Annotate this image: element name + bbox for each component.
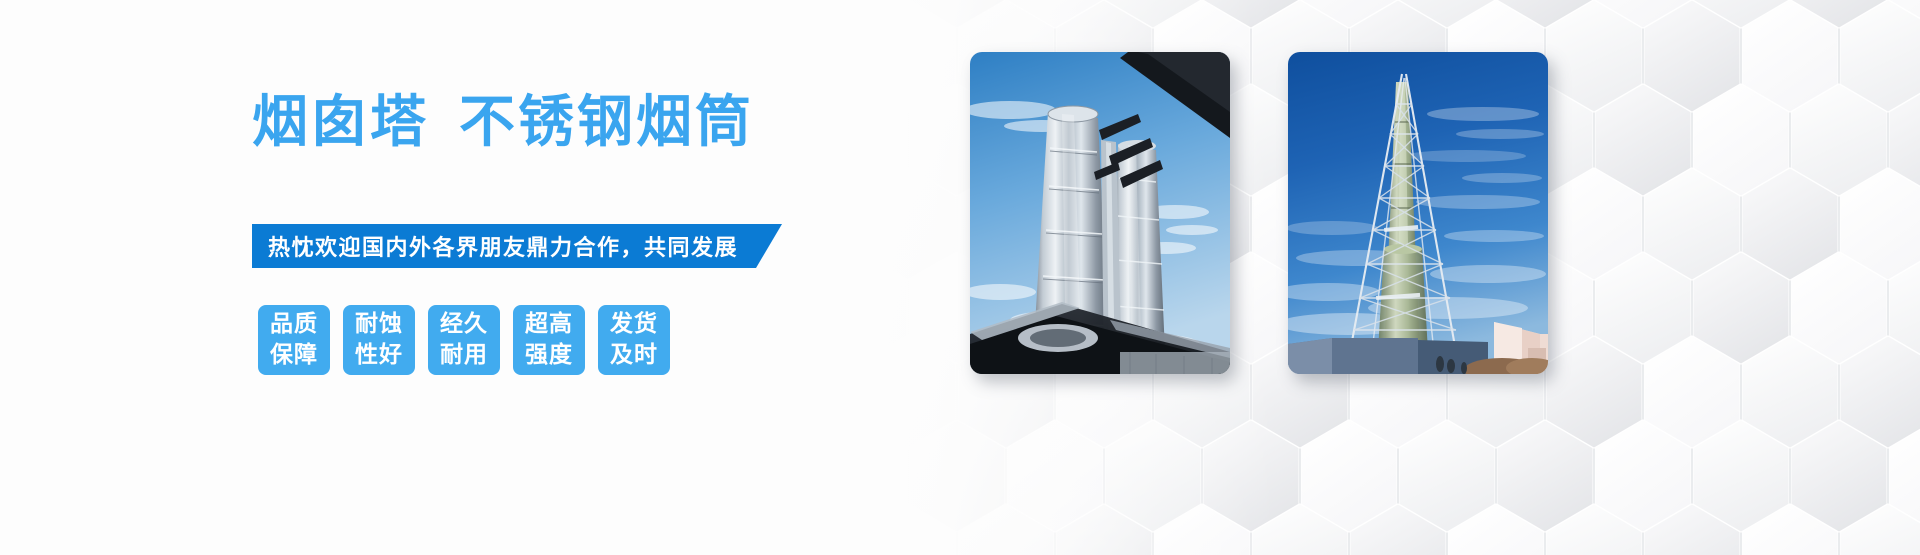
headline-part-1: 烟囱塔 — [252, 90, 429, 155]
promo-banner: 烟囱塔不锈钢烟筒 热忱欢迎国内外各界朋友鼎力合作，共同发展 品质 保障 耐蚀 性… — [0, 0, 1920, 555]
product-photo-chimney-tower[interactable] — [1288, 52, 1548, 374]
product-photo-stainless-chimney[interactable] — [970, 52, 1230, 374]
feature-badge[interactable]: 耐蚀 性好 — [343, 305, 415, 375]
badge-line-2: 强度 — [525, 340, 573, 371]
badge-line-2: 耐用 — [440, 340, 488, 371]
badge-line-1: 超高 — [525, 309, 573, 340]
badge-line-1: 耐蚀 — [355, 309, 403, 340]
badge-line-1: 经久 — [440, 309, 488, 340]
banner-headline: 烟囱塔不锈钢烟筒 — [252, 92, 754, 154]
feature-badge[interactable]: 超高 强度 — [513, 305, 585, 375]
feature-badge[interactable]: 品质 保障 — [258, 305, 330, 375]
feature-badge[interactable]: 经久 耐用 — [428, 305, 500, 375]
banner-text-column: 烟囱塔不锈钢烟筒 热忱欢迎国内外各界朋友鼎力合作，共同发展 品质 保障 耐蚀 性… — [252, 0, 1012, 555]
headline-part-2: 不锈钢烟筒 — [459, 90, 754, 155]
feature-badge[interactable]: 发货 及时 — [598, 305, 670, 375]
badge-line-2: 保障 — [270, 340, 318, 371]
feature-badge-list: 品质 保障 耐蚀 性好 经久 耐用 超高 强度 发货 及时 — [258, 305, 670, 375]
badge-line-2: 及时 — [610, 340, 658, 371]
ribbon-label: 热忱欢迎国内外各界朋友鼎力合作，共同发展 — [268, 230, 738, 262]
badge-line-1: 发货 — [610, 309, 658, 340]
banner-subtitle-ribbon: 热忱欢迎国内外各界朋友鼎力合作，共同发展 — [252, 224, 782, 268]
badge-line-1: 品质 — [270, 309, 318, 340]
badge-line-2: 性好 — [355, 340, 403, 371]
